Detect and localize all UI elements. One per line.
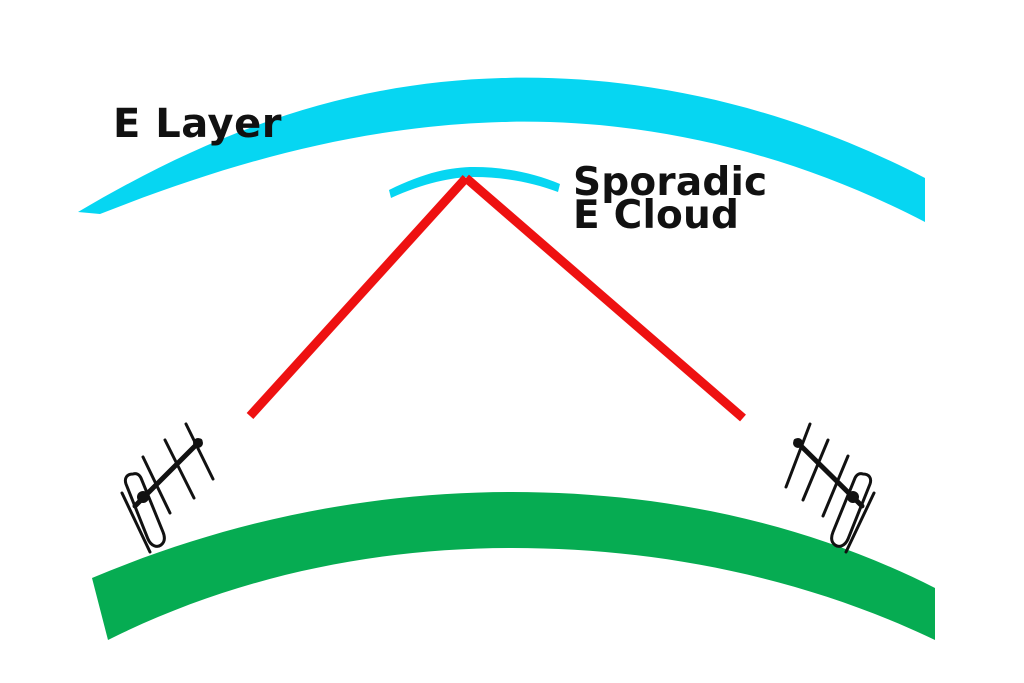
antenna-left-director-1 xyxy=(143,457,170,513)
antenna-left-yagi xyxy=(122,424,213,552)
antenna-right-yagi xyxy=(786,424,874,552)
e-layer-band xyxy=(78,78,925,222)
antenna-right-reflector xyxy=(786,424,810,487)
antenna-left-feed-node xyxy=(137,491,149,503)
e-layer-band-group xyxy=(78,78,925,222)
sporadic-e-propagation-diagram: E Layer Sporadic E Cloud xyxy=(0,0,1024,683)
diagram-canvas: E Layer Sporadic E Cloud xyxy=(0,0,1024,683)
antenna-right-feed-node xyxy=(847,491,859,503)
ray-up-transmit xyxy=(250,178,466,416)
earth-band xyxy=(92,492,935,640)
antenna-left-boom-tip-node xyxy=(193,438,203,448)
antenna-right-boom-tip-node xyxy=(793,438,803,448)
earth-band-group xyxy=(92,492,935,640)
label-e-layer: E Layer xyxy=(113,101,282,147)
label-sporadic-line-2: E Cloud xyxy=(573,193,739,238)
